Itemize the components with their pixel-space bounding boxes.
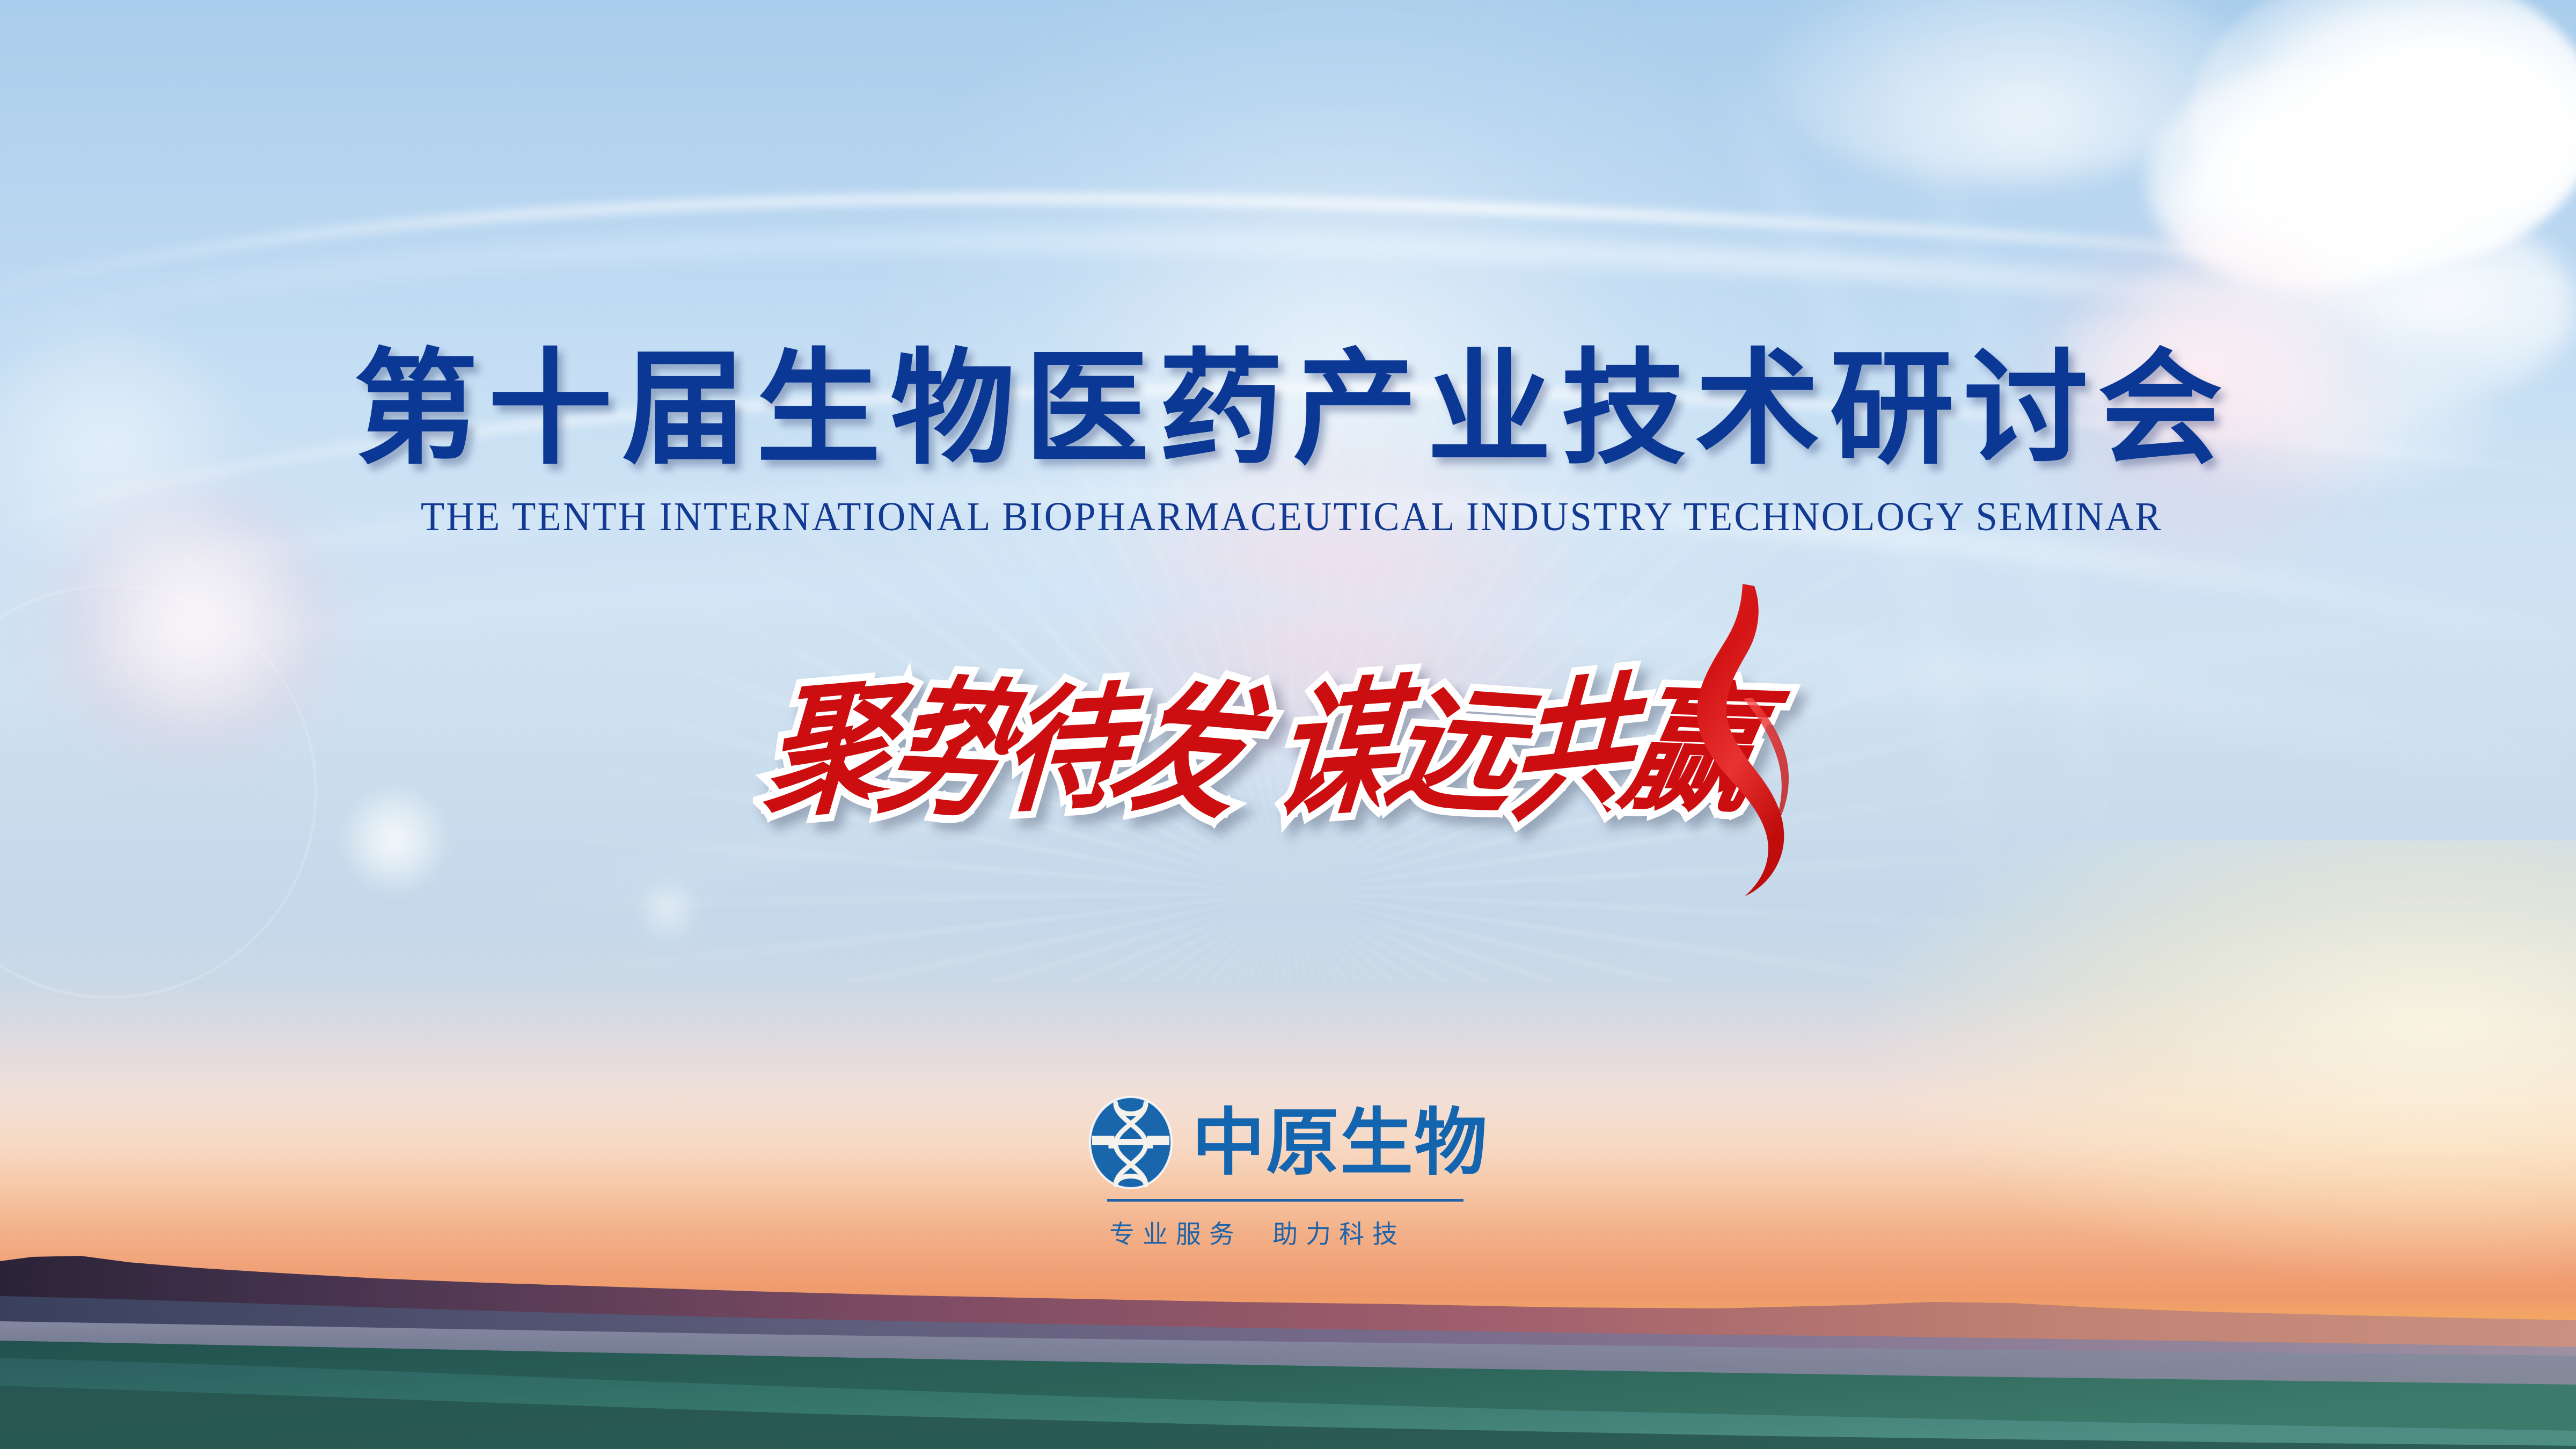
slogan-char-8: 赢: [1612, 679, 1766, 821]
company-name: 中原生物: [1192, 1106, 1488, 1179]
sub-title: THE TENTH INTERNATIONAL BIOPHARMACEUTICA…: [58, 494, 2518, 540]
event-banner: 第十届生物医药产业技术研讨会 THE TENTH INTERNATIONAL B…: [0, 0, 2576, 1449]
logo-divider: [1107, 1199, 1463, 1202]
dna-helix-circle-icon: [1088, 1095, 1174, 1190]
bokeh-orb-tiny: [639, 880, 698, 939]
slogan-char-6: 远: [1377, 679, 1528, 822]
company-logo: 中原生物 专业服务 助力科技: [1088, 1095, 1488, 1250]
main-title: 第十届生物医药产业技术研讨会: [0, 343, 2576, 475]
title-block: 第十届生物医药产业技术研讨会 THE TENTH INTERNATIONAL B…: [0, 343, 2576, 540]
slogan-block: 聚势待发谋远共赢: [0, 690, 2576, 811]
logo-tagline: 专业服务 助力科技: [1109, 1213, 1406, 1250]
slogan-calligraphy: 聚势待发谋远共赢: [769, 690, 1748, 811]
